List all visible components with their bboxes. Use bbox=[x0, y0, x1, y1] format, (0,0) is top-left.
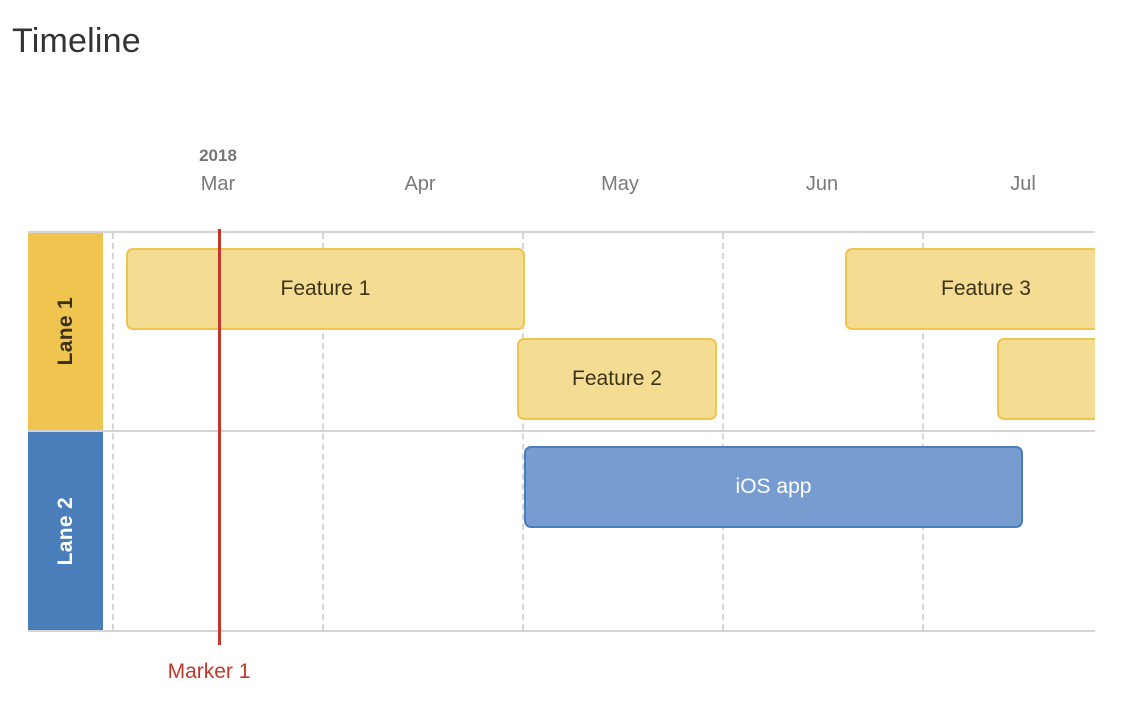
lane-header-lane-1[interactable]: Lane 1 bbox=[28, 233, 103, 430]
task-bar-label: Feature 3 bbox=[941, 277, 1031, 301]
task-bar-label: Feature 2 bbox=[572, 367, 662, 391]
marker-label: Marker 1 bbox=[168, 660, 251, 684]
task-bar[interactable] bbox=[997, 338, 1095, 420]
task-bar[interactable]: Feature 3 bbox=[845, 248, 1095, 330]
lane-label-text: Lane 1 bbox=[54, 297, 78, 365]
marker-line[interactable] bbox=[218, 229, 221, 645]
task-bar[interactable]: Feature 1 bbox=[126, 248, 525, 330]
plot-top-border bbox=[28, 231, 1095, 233]
timeline-plot-area: Lane 1 Lane 2 Feature 1Feature 2Feature … bbox=[28, 231, 1095, 632]
lane-header-lane-2[interactable]: Lane 2 bbox=[28, 432, 103, 630]
lane-divider bbox=[28, 430, 1095, 432]
task-bar-label: Feature 1 bbox=[281, 277, 371, 301]
timeline-gantt-chart: Lane 1 Lane 2 Feature 1Feature 2Feature … bbox=[0, 0, 1140, 720]
gridline-vertical bbox=[112, 233, 114, 630]
plot-bottom-border bbox=[28, 630, 1095, 632]
lane-label-text: Lane 2 bbox=[54, 497, 78, 565]
task-bar-label: iOS app bbox=[736, 475, 812, 499]
gridline-vertical bbox=[722, 233, 724, 630]
task-bar[interactable]: iOS app bbox=[524, 446, 1023, 528]
task-bar[interactable]: Feature 2 bbox=[517, 338, 717, 420]
